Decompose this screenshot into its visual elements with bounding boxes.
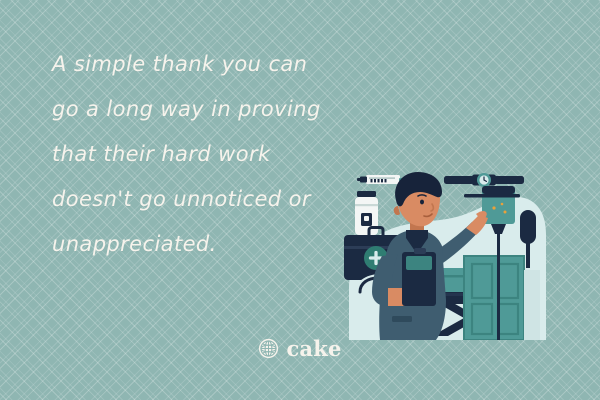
blood-pressure-monitor-icon <box>444 173 524 187</box>
quote-line-1: A simple thank you can <box>52 42 342 87</box>
cake-logo[interactable]: cake <box>0 338 600 359</box>
quote-line-4: doesn't go unnoticed or <box>52 177 342 222</box>
quote-line-3: that their hard work <box>52 132 342 177</box>
illustration-nurse-iv <box>336 160 600 340</box>
cake-wordmark: cake <box>286 338 341 359</box>
quote-line-5: unappreciated. <box>52 222 342 267</box>
quote-line-2: go a long way in proving <box>52 87 342 132</box>
quote-card: A simple thank you can go a long way in … <box>0 0 600 400</box>
cake-globe-rosette-icon <box>258 338 279 359</box>
quote-text: A simple thank you can go a long way in … <box>52 42 342 267</box>
